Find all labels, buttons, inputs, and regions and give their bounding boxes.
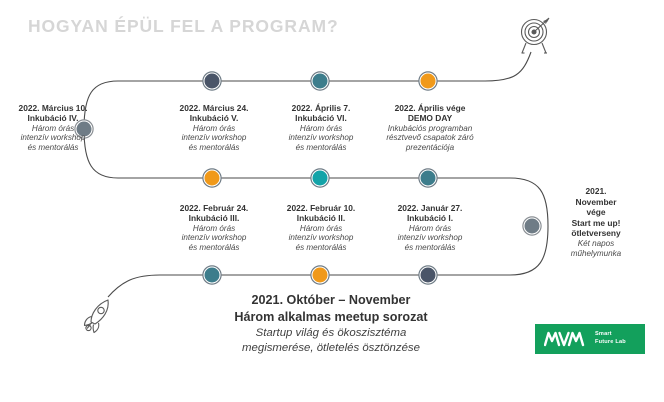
milestone-node-bottom-2[interactable] [312,267,329,284]
target-dartboard-icon [516,14,556,58]
milestone-label-aprilis-vege: 2022. Április vége DEMO DAY Inkubációs p… [386,103,473,153]
milestone-desc-1: Inkubációs programban [386,124,473,134]
start-line-2: November [553,197,639,208]
milestone-desc-1: Három órás [289,124,354,134]
meetup-line-3: Startup világ és ökoszisztéma [234,326,427,341]
rocket-icon [78,292,122,336]
milestone-name: Inkubáció II. [287,213,355,223]
milestone-node-januar-27[interactable] [420,170,437,187]
milestone-desc-2: intenzív workshop [180,133,249,143]
milestone-desc-2: intenzív workshop [287,233,355,243]
start-line-7: műhelymunka [553,249,639,259]
milestone-node-marcius-24[interactable] [204,73,221,90]
milestone-node-bottom-1[interactable] [204,267,221,284]
start-line-4: Start me up! [553,218,639,229]
meetup-series-label: 2021. Október – November Három alkalmas … [234,292,427,357]
milestone-label-start-me-up: 2021. November vége Start me up! ötletve… [553,186,639,259]
milestone-desc-1: Három órás [398,224,463,234]
milestone-desc-1: Három órás [180,124,249,134]
milestone-label-marcius-10: 2022. Március 10. Inkubáció IV. Három ór… [4,103,102,153]
milestone-desc-3: és mentorálás [180,143,249,153]
logo-tagline: Smart Future Lab [595,331,626,346]
mvm-smart-future-lab-logo: Smart Future Lab [535,324,645,354]
milestone-name: Inkubáció IV. [4,113,102,123]
milestone-node-februar-10[interactable] [312,170,329,187]
start-line-5: ötletverseny [553,228,639,239]
infographic-canvas: HOGYAN ÉPÜL FEL A PROGRAM? 2022. Március… [0,0,664,402]
milestone-node-februar-24[interactable] [204,170,221,187]
milestone-desc-2: intenzív workshop [289,133,354,143]
milestone-label-januar-27: 2022. Január 27. Inkubáció I. Három órás… [398,203,463,253]
milestone-label-februar-24: 2022. Február 24. Inkubáció III. Három ó… [180,203,248,253]
milestone-date: 2022. Április 7. [289,103,354,113]
milestone-desc-3: és mentorálás [289,143,354,153]
logo-tagline-line-2: Future Lab [595,339,626,347]
milestone-date: 2022. Április vége [386,103,473,113]
milestone-name: Inkubáció VI. [289,113,354,123]
start-line-6: Két napos [553,239,639,249]
start-line-3: vége [553,207,639,218]
milestone-desc-1: Három órás [4,124,102,134]
milestone-desc-2: résztvevő csapatok záró [386,133,473,143]
meetup-line-1: 2021. Október – November [234,292,427,309]
milestone-desc-1: Három órás [287,224,355,234]
milestone-date: 2022. Március 10. [4,103,102,113]
meetup-line-4: megismerése, ötletelés ösztönzése [234,341,427,356]
milestone-desc-1: Három órás [180,224,248,234]
milestone-desc-3: prezentációja [386,143,473,153]
milestone-date: 2022. Február 24. [180,203,248,213]
meetup-line-2: Három alkalmas meetup sorozat [234,309,427,326]
mvm-wordmark-icon [544,331,588,347]
milestone-desc-3: és mentorálás [4,143,102,153]
milestone-date: 2022. Január 27. [398,203,463,213]
milestone-node-aprilis-7[interactable] [312,73,329,90]
milestone-node-start-me-up[interactable] [524,218,541,235]
milestone-label-aprilis-7: 2022. Április 7. Inkubáció VI. Három órá… [289,103,354,153]
milestone-name: Inkubáció I. [398,213,463,223]
milestone-name: Inkubáció V. [180,113,249,123]
milestone-name: DEMO DAY [386,113,473,123]
milestone-label-marcius-24: 2022. Március 24. Inkubáció V. Három órá… [180,103,249,153]
start-line-1: 2021. [553,186,639,197]
milestone-date: 2022. Február 10. [287,203,355,213]
milestone-desc-2: intenzív workshop [398,233,463,243]
milestone-name: Inkubáció III. [180,213,248,223]
milestone-desc-2: intenzív workshop [180,233,248,243]
logo-tagline-line-1: Smart [595,331,626,339]
milestone-desc-3: és mentorálás [398,243,463,253]
milestone-desc-3: és mentorálás [180,243,248,253]
milestone-desc-2: intenzív workshop [4,133,102,143]
milestone-desc-3: és mentorálás [287,243,355,253]
milestone-node-bottom-3[interactable] [420,267,437,284]
milestone-date: 2022. Március 24. [180,103,249,113]
milestone-node-aprilis-vege[interactable] [420,73,437,90]
milestone-label-februar-10: 2022. Február 10. Inkubáció II. Három ór… [287,203,355,253]
